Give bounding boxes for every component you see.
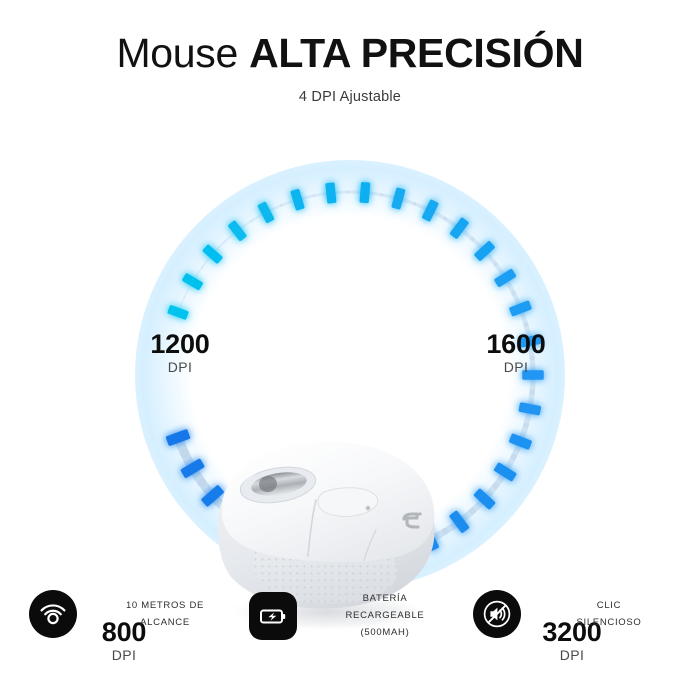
dial-tick xyxy=(257,201,275,223)
dpi-unit: DPI xyxy=(456,359,576,376)
dial-tick xyxy=(359,182,370,203)
dpi-dial-stage: 1200 DPI 1600 DPI 800 DPI 3200 DPI xyxy=(0,140,700,560)
feature-label-silent: CLIC SILENCIOSO xyxy=(535,597,683,631)
wireless-signal-icon xyxy=(29,590,77,638)
dial-tick xyxy=(421,199,439,222)
dpi-unit: DPI xyxy=(120,359,240,376)
dial-tick xyxy=(167,305,189,320)
feature-label-battery: BATERÍA RECARGEABLE (500MAH) xyxy=(311,590,459,641)
dial-tick xyxy=(227,220,247,242)
page-subtitle: 4 DPI Ajustable xyxy=(0,89,700,105)
feature-label-range: 10 METROS DE ALCANCE xyxy=(91,597,239,631)
dpi-value: 1600 xyxy=(456,330,576,359)
page-title: Mouse ALTA PRECISIÓN xyxy=(0,28,700,78)
dial-tick xyxy=(182,273,204,291)
dpi-value: 1200 xyxy=(120,330,240,359)
dpi-label-1200: 1200 DPI xyxy=(120,330,240,376)
dial-tick xyxy=(325,182,336,203)
feature-range: 10 METROS DE ALCANCE xyxy=(17,590,239,638)
feature-battery: BATERÍA RECARGEABLE (500MAH) xyxy=(239,590,459,641)
dial-tick xyxy=(494,268,517,287)
header: Mouse ALTA PRECISIÓN 4 DPI Ajustable xyxy=(0,0,700,105)
dial-tick xyxy=(290,189,305,211)
dpi-label-1600: 1600 DPI xyxy=(456,330,576,376)
battery-charging-icon xyxy=(249,592,297,640)
title-light-part: Mouse xyxy=(116,30,249,76)
title-bold-part: ALTA PRECISIÓN xyxy=(249,30,583,76)
mute-speaker-icon xyxy=(473,590,521,638)
mouse-led-core xyxy=(367,507,369,509)
dial-tick xyxy=(518,402,541,415)
feature-row: 10 METROS DE ALCANCE BATERÍA RECARGEABLE… xyxy=(0,590,700,680)
product-infographic: { "header": { "title_light": "Mouse ", "… xyxy=(0,0,700,700)
feature-silent-click: CLIC SILENCIOSO xyxy=(459,590,683,638)
